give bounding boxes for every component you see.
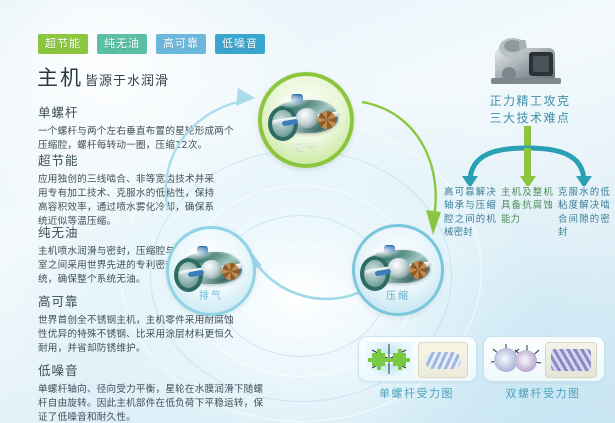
right-point-sealing: 高可靠解决轴承与压缩腔之间的机械密封 xyxy=(444,186,496,239)
compressor-illustration xyxy=(176,242,247,292)
caption-twin-screw: 双螺杆受力图 xyxy=(483,385,603,401)
caption-single-screw: 单螺杆受力图 xyxy=(358,385,475,401)
cycle-stage-compression[interactable]: 压缩 xyxy=(352,224,444,316)
cycle-stage-label: 排气 xyxy=(169,287,253,302)
twin-screw-rotor-figure xyxy=(545,342,597,378)
section-single-screw: 单螺杆 一个螺杆与两个左右垂直布置的星轮形成两个压缩腔，螺杆每转动一圈，压缩12… xyxy=(38,102,238,153)
cycle-stage-label: 吸气 xyxy=(262,138,350,153)
badge-low-noise[interactable]: 低噪音 xyxy=(215,34,265,54)
section-heading: 单螺杆 xyxy=(38,102,238,121)
feature-badge-row: 超节能 纯无油 高可靠 低噪音 xyxy=(38,34,265,54)
single-screw-force-figure xyxy=(366,342,412,376)
page-title: 主机皆源于水润滑 xyxy=(37,62,169,92)
compressor-illustration xyxy=(362,241,434,293)
ripple-ring-5 xyxy=(245,245,357,337)
force-diagram-card-twin[interactable] xyxy=(483,336,605,382)
section-body: 世界首创全不锈钢主机，主机零件采用耐腐蚀性优异的特殊不锈钢、比采用涂层材料更恒久… xyxy=(38,314,243,356)
right-panel-title: 正力精工攻克 三大技术难点 xyxy=(470,93,590,128)
cycle-stage-label: 压缩 xyxy=(355,287,441,302)
badge-energy-saving[interactable]: 超节能 xyxy=(38,34,88,54)
branch-connector xyxy=(440,126,615,186)
right-panel-points: 高可靠解决轴承与压缩腔之间的机械密封 主机及整机具备抗腐蚀能力 克服水的低粘度解… xyxy=(444,186,612,239)
right-point-corrosion: 主机及整机具备抗腐蚀能力 xyxy=(501,186,553,239)
ripple-ring-6 xyxy=(262,262,338,322)
poster-canvas: 超节能 纯无油 高可靠 低噪音 主机皆源于水润滑 单螺杆 一个螺杆与两个左右垂直… xyxy=(0,0,615,423)
badge-oil-free[interactable]: 纯无油 xyxy=(97,34,147,54)
page-title-main: 主机 xyxy=(37,66,83,90)
section-heading: 纯无油 xyxy=(38,222,198,241)
right-panel-title-line1: 正力精工攻克 xyxy=(470,93,590,110)
twin-screw-force-figure xyxy=(488,340,544,378)
right-point-viscosity: 克服水的低粘度解决啮合间隙的密封 xyxy=(558,186,610,239)
page-title-sub: 皆源于水润滑 xyxy=(85,74,169,89)
badge-reliable[interactable]: 高可靠 xyxy=(156,34,206,54)
compressor-illustration xyxy=(269,90,343,143)
machine-photo xyxy=(489,34,563,92)
section-body: 应用独创的三线啮合、非等宽齿技术并采用专有加工技术、克服水的低粘性，保持高容积效… xyxy=(38,173,216,229)
cycle-stage-exhaust[interactable]: 排气 xyxy=(166,226,256,316)
single-screw-rotor-figure xyxy=(418,342,468,378)
section-body: 一个螺杆与两个左右垂直布置的星轮形成两个压缩腔，螺杆每转动一圈，压缩12次。 xyxy=(38,125,238,153)
section-low-noise: 低噪音 单螺杆轴向、径向受力平衡，星轮在水膜润滑下随螺杆自由旋转。因此主机部件在… xyxy=(38,360,266,423)
cycle-stage-intake[interactable]: 吸气 xyxy=(258,72,354,168)
section-energy-saving: 超节能 应用独创的三线啮合、非等宽齿技术并采用专有加工技术、克服水的低粘性，保持… xyxy=(38,150,216,229)
section-body: 单螺杆轴向、径向受力平衡，星轮在水膜润滑下随螺杆自由旋转。因此主机部件在低负荷下… xyxy=(38,383,266,423)
force-diagram-card-single[interactable] xyxy=(358,336,477,382)
section-heading: 超节能 xyxy=(38,150,216,169)
section-heading: 低噪音 xyxy=(38,360,266,379)
